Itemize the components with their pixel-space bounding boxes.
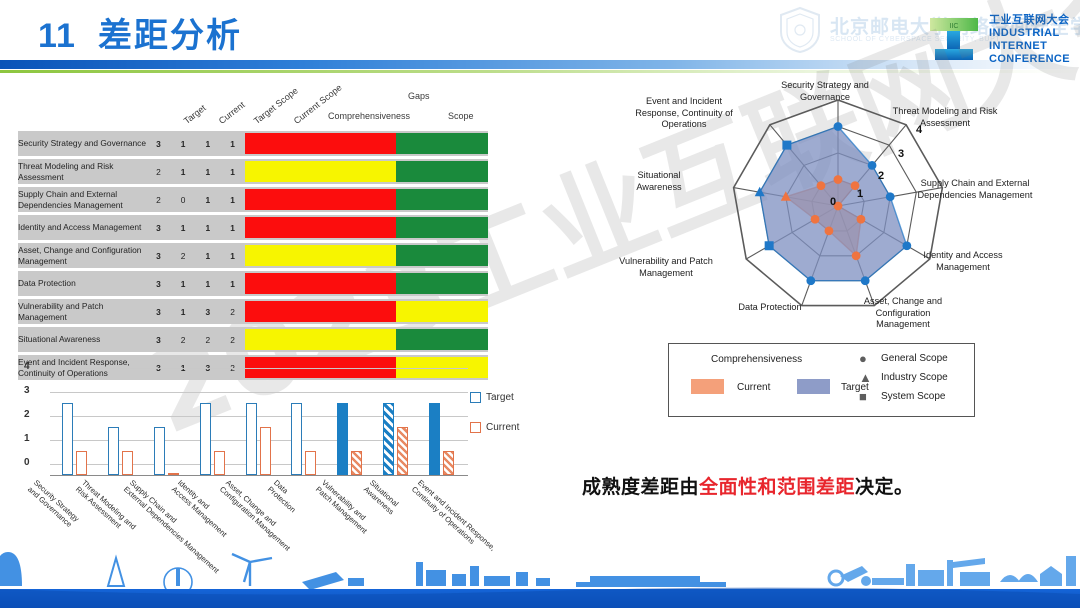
bar-current [351, 451, 362, 475]
bar-chart-plot-area [52, 368, 464, 475]
slide-number: 11 [38, 17, 76, 56]
cell-target: 3 [146, 243, 171, 268]
cell-target-scope: 1 [196, 187, 221, 212]
y-tick-label: 2 [24, 409, 30, 420]
caption-suffix: 决定。 [855, 477, 914, 498]
cell-gap-bar [245, 271, 488, 296]
legend-marker-square: ■ [859, 390, 867, 403]
cell-target-scope: 3 [196, 299, 221, 324]
radar-marker-circle [868, 161, 877, 170]
legend-label-scope: General Scope [881, 353, 948, 364]
y-tick-label: 3 [24, 385, 30, 396]
col-header-current: Current [217, 100, 247, 126]
conference-logo-icon: IIC [928, 16, 980, 62]
radar-marker-circle [902, 241, 911, 250]
radar-marker-circle [811, 215, 820, 224]
bar-current [260, 427, 271, 475]
cell-category: Data Protection [18, 271, 146, 296]
cell-current: 1 [171, 299, 196, 324]
col-header-target: Target [182, 103, 208, 126]
radar-axis-label: Supply Chain and External Dependencies M… [910, 178, 1040, 201]
gap-scope [396, 245, 488, 266]
radar-marker-circle [825, 227, 834, 236]
cell-target-scope: 1 [196, 159, 221, 184]
radar-tick-label: 3 [898, 148, 904, 160]
bar-group [235, 368, 281, 475]
x-tick-label: DataProtection [265, 478, 303, 515]
cell-target-scope: 1 [196, 131, 221, 156]
cell-category: Threat Modeling and Risk Assessment [18, 159, 146, 184]
cell-current-scope: 1 [220, 131, 245, 156]
bar-target [291, 403, 302, 475]
col-header-comprehensiveness: Comprehensiveness [328, 111, 410, 121]
bar-target [200, 403, 211, 475]
caption-text: 成熟度差距由全面性和范围差距决定。 [582, 472, 914, 499]
cell-current-scope: 2 [220, 327, 245, 352]
radar-axis-label: Security Strategy and Governance [770, 80, 880, 103]
legend-label-target: Target [486, 392, 514, 403]
bar-target [62, 403, 73, 475]
legend-swatch-target-radar [797, 379, 830, 394]
gap-scope [396, 273, 488, 294]
cell-category: Situational Awareness [18, 327, 146, 352]
cell-gap-bar [245, 327, 488, 352]
bar-target [246, 403, 257, 475]
legend-swatch-target [470, 392, 481, 403]
radar-tick-label: 2 [878, 170, 884, 182]
cell-current: 0 [171, 187, 196, 212]
maturity-gap-table: Target Current Target Scope Current Scop… [18, 88, 488, 383]
legend-swatch-current-radar [691, 379, 724, 394]
gap-comprehensiveness [245, 189, 396, 210]
cell-current-scope: 2 [220, 299, 245, 324]
radar-tick-label: 0 [830, 196, 836, 208]
x-tick-label: SituationalAwareness [361, 478, 402, 517]
bar-target [337, 403, 348, 475]
cell-target-scope: 1 [196, 243, 221, 268]
legend-label-current: Current [486, 422, 519, 433]
legend-label-scope: Industry Scope [881, 372, 948, 383]
legend-title-comprehensiveness: Comprehensiveness [711, 354, 802, 365]
y-tick-label: 4 [24, 361, 30, 372]
cell-gap-bar [245, 299, 488, 324]
bar-current [214, 451, 225, 475]
caption-prefix: 成熟度差距由 [582, 477, 699, 498]
y-tick-label: 1 [24, 433, 30, 444]
cell-category: Supply Chain and External Dependencies M… [18, 187, 146, 212]
bar-chart-legend: Target Current [470, 392, 519, 452]
table-row: Asset, Change and Configuration Manageme… [18, 243, 488, 268]
bar-group [144, 368, 190, 475]
cell-target: 2 [146, 187, 171, 212]
bar-target [429, 403, 440, 475]
cell-target-scope: 1 [196, 271, 221, 296]
gap-comprehensiveness [245, 329, 396, 350]
bar-group [52, 368, 98, 475]
footer-skyline [0, 548, 1080, 608]
radar-axis-label: Identity and Access Management [908, 250, 1018, 273]
radar-tick-label: 4 [916, 124, 922, 136]
cell-gap-bar [245, 159, 488, 184]
radar-marker-circle [806, 276, 815, 285]
bar-target [108, 427, 119, 475]
radar-marker-square [782, 141, 791, 150]
legend-label-current-radar: Current [737, 382, 770, 393]
cell-target: 3 [146, 271, 171, 296]
bar-current [305, 451, 316, 475]
cell-current: 1 [171, 159, 196, 184]
cell-gap-bar [245, 215, 488, 240]
conference-name-en-1: INDUSTRIAL [989, 27, 1070, 40]
cell-gap-bar [245, 187, 488, 212]
gap-comprehensiveness [245, 161, 396, 182]
radar-marker-square [765, 241, 774, 250]
cell-target: 2 [146, 159, 171, 184]
legend-marker-triangle: ▲ [859, 371, 872, 384]
radar-axis-label: Vulnerability and Patch Management [612, 256, 720, 279]
table-row: Identity and Access Management3111 [18, 215, 488, 240]
legend-marker-circle: ● [859, 352, 867, 365]
slide-heading: 差距分析 [98, 8, 242, 57]
table-row: Vulnerability and Patch Management3132 [18, 299, 488, 324]
cell-category: Asset, Change and Configuration Manageme… [18, 243, 146, 268]
cell-gap-bar [245, 131, 488, 156]
radar-marker-circle [861, 276, 870, 285]
bar-group [98, 368, 144, 475]
bar-group [372, 368, 418, 475]
table-row: Situational Awareness3222 [18, 327, 488, 352]
legend-swatch-current [470, 422, 481, 433]
cell-current-scope: 1 [220, 187, 245, 212]
table-row: Data Protection3111 [18, 271, 488, 296]
cell-current-scope: 1 [220, 215, 245, 240]
radar-axis-label: Situational Awareness [616, 170, 702, 193]
cell-target: 3 [146, 215, 171, 240]
radar-chart-legend: Comprehensiveness Current Target ●Genera… [668, 343, 975, 417]
skyline-illustration [0, 548, 1080, 608]
radar-marker-circle [886, 192, 895, 201]
cell-gap-bar [245, 243, 488, 268]
bar-current [122, 451, 133, 475]
gap-comprehensiveness [245, 133, 396, 154]
table-row: Security Strategy and Governance3111 [18, 131, 488, 156]
y-tick-label: 0 [24, 457, 30, 468]
radar-marker-circle [834, 175, 843, 184]
bar-group [189, 368, 235, 475]
legend-label-scope: System Scope [881, 391, 945, 402]
radar-marker-circle [834, 122, 843, 131]
conference-name-en-3: CONFERENCE [989, 53, 1070, 66]
header-divider-green [0, 70, 1080, 73]
cell-current: 1 [171, 271, 196, 296]
logo-area: 北京邮电大学网络空间安全学院 SCHOOL OF CYBERSPACE SECU… [772, 2, 1072, 62]
conference-text-block: 工业互联网大会 INDUSTRIAL INTERNET CONFERENCE [989, 14, 1070, 66]
bar-current [168, 473, 179, 475]
col-header-gaps: Gaps [408, 91, 430, 101]
bar-group [418, 368, 464, 475]
cell-current-scope: 1 [220, 159, 245, 184]
gap-comprehensiveness [245, 217, 396, 238]
bar-current [76, 451, 87, 475]
cell-current-scope: 1 [220, 271, 245, 296]
bar-current [443, 451, 454, 475]
conference-name-en-2: INTERNET [989, 40, 1070, 53]
cell-target: 3 [146, 299, 171, 324]
radar-marker-circle [817, 181, 826, 190]
svg-text:IIC: IIC [950, 23, 959, 30]
cell-current: 1 [171, 215, 196, 240]
bar-target [383, 403, 394, 475]
gap-comprehensiveness [245, 273, 396, 294]
gap-comprehensiveness [245, 301, 396, 322]
cell-category: Identity and Access Management [18, 215, 146, 240]
cell-target: 3 [146, 131, 171, 156]
radar-axis-label: Data Protection [720, 302, 820, 314]
radar-tick-label: 1 [857, 188, 863, 200]
maturity-radar-chart: Security Strategy and GovernanceThreat M… [620, 78, 1070, 333]
cell-current: 1 [171, 131, 196, 156]
gap-scope [396, 301, 488, 322]
conference-name-cn: 工业互联网大会 [989, 14, 1070, 27]
radar-axis-label: Event and Incident Response, Continuity … [628, 96, 740, 131]
gap-scope [396, 161, 488, 182]
legend-item-current: Current [470, 422, 519, 433]
bar-group [327, 368, 373, 475]
x-tick-label: Security Strategyand Governance [25, 478, 81, 531]
cell-target: 3 [146, 327, 171, 352]
gap-scope [396, 133, 488, 154]
bar-group [281, 368, 327, 475]
gap-scope [396, 329, 488, 350]
cell-current: 2 [171, 327, 196, 352]
col-header-scope: Scope [448, 111, 474, 121]
cell-category: Vulnerability and Patch Management [18, 299, 146, 324]
radar-axis-label: Threat Modeling and Risk Assessment [885, 106, 1005, 129]
radar-marker-circle [852, 251, 861, 260]
legend-item-target: Target [470, 392, 519, 403]
page-title: 11 差距分析 [38, 8, 242, 57]
gap-comprehensiveness [245, 245, 396, 266]
radar-marker-circle [857, 215, 866, 224]
cell-target-scope: 1 [196, 215, 221, 240]
radar-axis-label: Asset, Change and Configuration Manageme… [848, 296, 958, 331]
bar-current [397, 427, 408, 475]
university-crest-icon [778, 6, 822, 54]
cell-category: Security Strategy and Governance [18, 131, 146, 156]
cell-current: 2 [171, 243, 196, 268]
maturity-bar-chart: 01234 [18, 368, 468, 476]
caption-highlight: 全面性和范围差距 [699, 477, 855, 498]
gap-scope [396, 189, 488, 210]
table-header-row: Target Current Target Scope Current Scop… [18, 88, 488, 128]
bar-target [154, 427, 165, 475]
cell-current-scope: 1 [220, 243, 245, 268]
gap-scope [396, 217, 488, 238]
cell-target-scope: 2 [196, 327, 221, 352]
table-row: Supply Chain and External Dependencies M… [18, 187, 488, 212]
table-row: Threat Modeling and Risk Assessment2111 [18, 159, 488, 184]
